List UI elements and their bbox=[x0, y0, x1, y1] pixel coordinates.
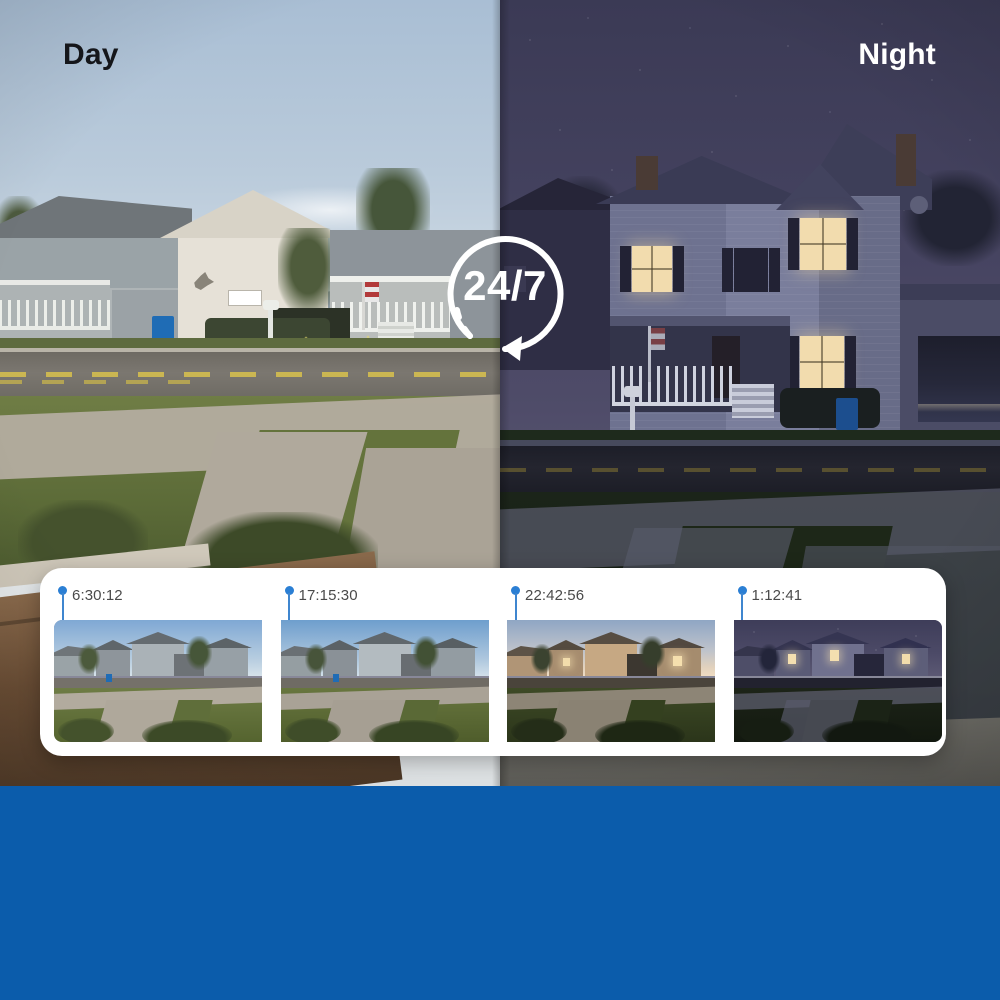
clip-timestamp: 22:42:56 bbox=[525, 587, 584, 604]
bottom-banner: 24-Hour Protection Capture all activity … bbox=[0, 786, 1000, 1000]
night-shutter-3b bbox=[847, 218, 858, 270]
timestamp-pin-icon bbox=[58, 586, 67, 620]
night-recycling-bin bbox=[836, 398, 858, 430]
night-road-marking bbox=[500, 468, 1000, 472]
night-mailbox bbox=[624, 386, 641, 397]
timeline-clip[interactable]: 22:42:56 bbox=[493, 568, 720, 756]
night-shutter-1b bbox=[673, 246, 684, 292]
night-label: Night bbox=[858, 38, 936, 72]
clip-thumbnail[interactable] bbox=[734, 620, 942, 742]
mini-scene-afternoon bbox=[281, 620, 489, 742]
night-garage-light-spill bbox=[918, 404, 1000, 412]
clip-thumbnail[interactable] bbox=[281, 620, 489, 742]
day-label: Day bbox=[63, 38, 119, 72]
timestamp-pin-icon bbox=[285, 586, 294, 620]
timeline-clip[interactable]: 6:30:12 bbox=[40, 568, 267, 756]
night-chimney-right bbox=[896, 134, 916, 186]
day-mailbox bbox=[263, 300, 279, 310]
day-tree-center bbox=[278, 228, 338, 314]
clip-thumbnail[interactable] bbox=[54, 620, 262, 742]
day-window-center bbox=[228, 290, 262, 306]
pin-line bbox=[741, 593, 743, 620]
timeline-card: 6:30:12 bbox=[40, 568, 946, 756]
pin-line bbox=[515, 593, 517, 620]
night-shutter-2a bbox=[722, 248, 733, 292]
clip-timestamp: 17:15:30 bbox=[299, 587, 358, 604]
twentyfour-seven-badge: 24/7 bbox=[430, 218, 580, 373]
night-shutter-2b bbox=[769, 248, 780, 292]
mini-scene-morning bbox=[54, 620, 262, 742]
timeline-clip[interactable]: 1:12:41 bbox=[720, 568, 947, 756]
night-flag bbox=[651, 328, 665, 350]
night-satellite-dish bbox=[910, 196, 928, 214]
day-railing-left bbox=[0, 300, 110, 330]
timeline-clip-list: 6:30:12 bbox=[40, 568, 946, 756]
night-chimney-left bbox=[636, 156, 658, 190]
night-lit-window-3 bbox=[800, 218, 846, 270]
night-porch-steps bbox=[732, 384, 774, 418]
timestamp-pin-icon bbox=[511, 586, 520, 620]
pin-line bbox=[62, 593, 64, 620]
night-dark-window-2 bbox=[734, 248, 768, 292]
night-shutter-4b bbox=[845, 336, 856, 388]
timestamp-pin-icon bbox=[738, 586, 747, 620]
night-hedge bbox=[780, 388, 880, 428]
timeline-clip[interactable]: 17:15:30 bbox=[267, 568, 494, 756]
promo-graphic: Day Night 24/7 6:30:12 bbox=[0, 0, 1000, 1000]
night-shutter-3a bbox=[788, 218, 799, 270]
badge-label: 24/7 bbox=[430, 262, 580, 310]
night-lit-window-1 bbox=[632, 246, 672, 292]
night-lit-window-4 bbox=[800, 336, 844, 388]
pin-line bbox=[288, 593, 290, 620]
clip-timestamp: 6:30:12 bbox=[72, 587, 123, 604]
day-road-marking-2 bbox=[0, 380, 210, 384]
day-road-marking bbox=[0, 372, 500, 377]
day-flag bbox=[365, 282, 379, 302]
night-shutter-1a bbox=[620, 246, 631, 292]
clip-thumbnail[interactable] bbox=[507, 620, 715, 742]
clip-timestamp: 1:12:41 bbox=[752, 587, 803, 604]
mini-scene-night bbox=[734, 620, 942, 742]
mini-scene-dusk bbox=[507, 620, 715, 742]
